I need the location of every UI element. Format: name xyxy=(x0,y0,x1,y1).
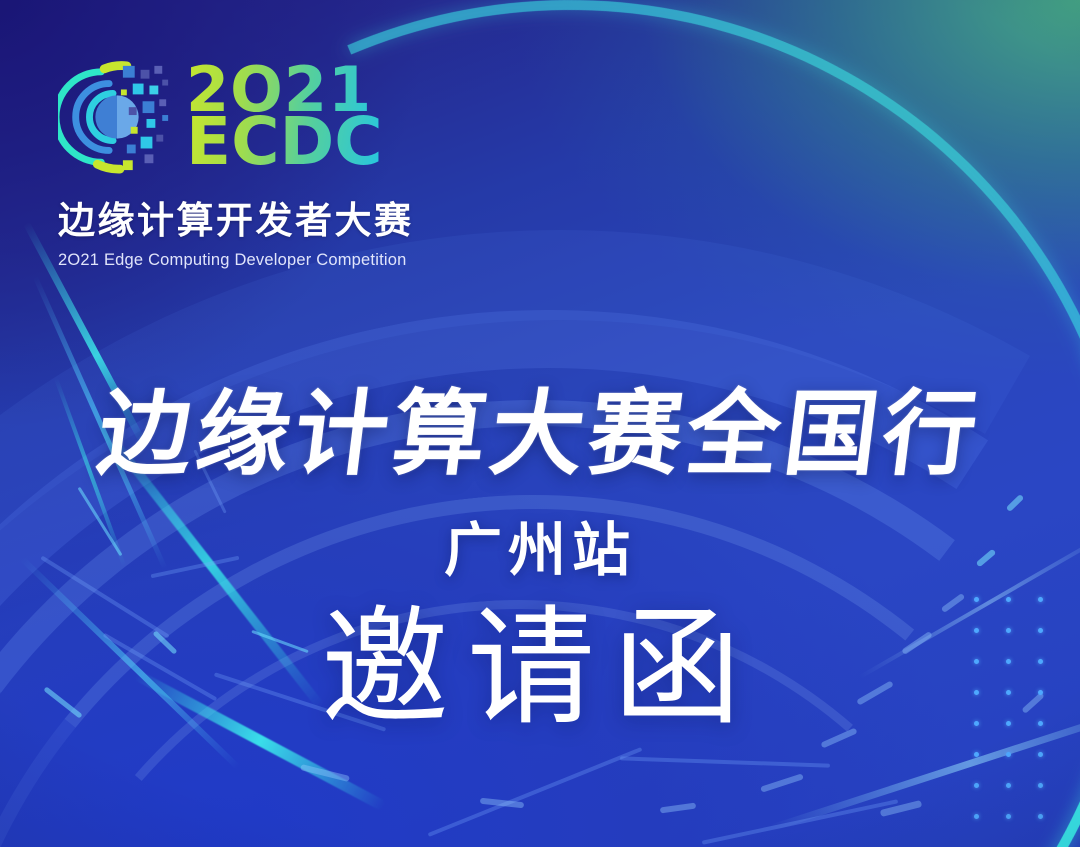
city-subtitle: 广州站 xyxy=(0,503,1080,587)
arc-dash-9 xyxy=(660,803,696,814)
arc-dash-12 xyxy=(300,764,350,782)
circuit-trace-9 xyxy=(702,799,898,844)
circuit-trace-6 xyxy=(428,747,643,837)
logo-acronym: ECDC xyxy=(186,112,383,173)
ecdc-circular-logo-mark xyxy=(58,58,176,176)
logo-top-row: 2O21 ECDC xyxy=(58,58,408,176)
headline-block: 边缘计算大赛全国行 广州站 邀请函 xyxy=(0,388,1080,740)
logo-chinese-name: 边缘计算开发者大赛 xyxy=(58,190,408,244)
logo-wordmark: 2O21 ECDC xyxy=(186,61,383,173)
arc-dash-13 xyxy=(480,798,524,809)
main-title: 边缘计算大赛全国行 xyxy=(0,388,1080,481)
event-logo: 2O21 ECDC 边缘计算开发者大赛 2O21 Edge Computing … xyxy=(58,58,408,270)
arc-dash-7 xyxy=(760,773,804,792)
logo-english-name: 2O21 Edge Computing Developer Competitio… xyxy=(58,251,408,270)
invitation-title: 邀请函 xyxy=(0,599,1080,740)
poster-canvas: 2O21 ECDC 边缘计算开发者大赛 2O21 Edge Computing … xyxy=(0,0,1080,847)
arc-dash-8 xyxy=(880,800,922,817)
circuit-trace-7 xyxy=(620,756,830,767)
